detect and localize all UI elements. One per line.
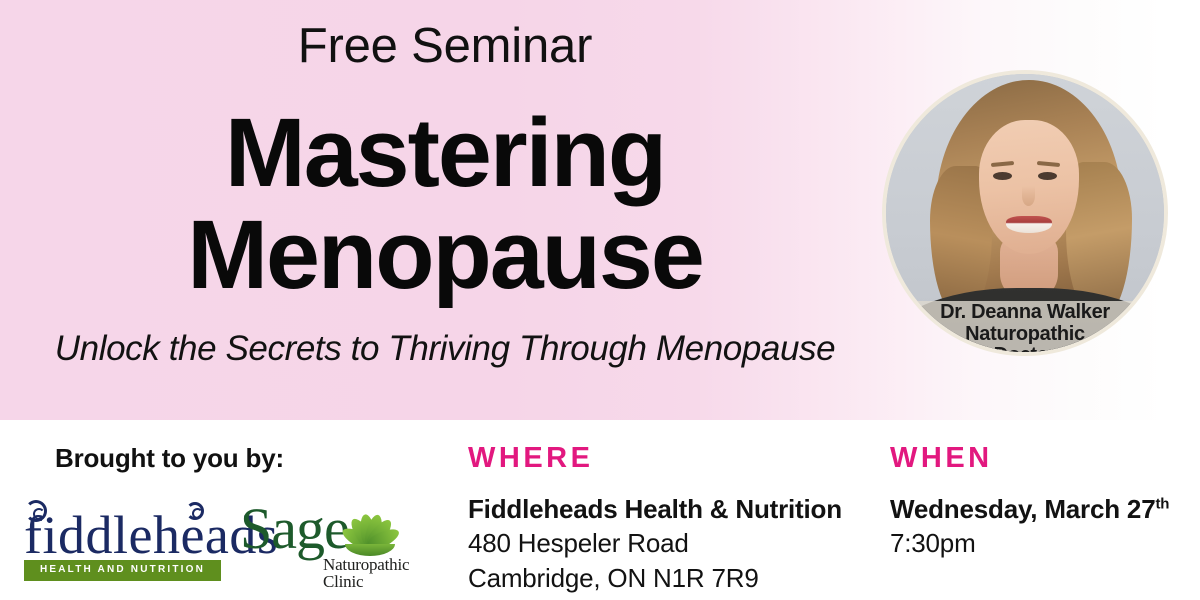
event-date-line: Wednesday, March 27th xyxy=(890,492,1190,526)
page-title-line-2: Menopause xyxy=(0,206,890,303)
sage-logo[interactable]: Sage Naturopathic Clinic xyxy=(240,494,430,586)
portrait-nose xyxy=(1022,186,1035,206)
page-title-line-1: Mastering xyxy=(0,104,890,201)
event-date-ordinal-suffix: th xyxy=(1155,495,1169,512)
fiddleheads-logo[interactable]: fiddleheads HEALTH AND NUTRITION xyxy=(12,498,234,584)
hero-section: Free Seminar Mastering Menopause Unlock … xyxy=(0,0,1200,420)
sponsors-section: Brought to you by: fiddleheads HEALTH AN… xyxy=(0,420,440,600)
eyebrow-text: Free Seminar xyxy=(0,22,890,71)
sage-tagline: Naturopathic Clinic xyxy=(323,556,430,590)
event-banner: Free Seminar Mastering Menopause Unlock … xyxy=(0,0,1200,600)
venue-name: Fiddleheads Health & Nutrition xyxy=(468,492,868,526)
where-section: WHERE Fiddleheads Health & Nutrition 480… xyxy=(468,420,868,600)
brought-to-you-by-label: Brought to you by: xyxy=(55,443,284,474)
footer-info-bar: Brought to you by: fiddleheads HEALTH AN… xyxy=(0,420,1200,600)
portrait-eye-right xyxy=(1038,172,1057,180)
when-kicker: WHEN xyxy=(890,444,993,473)
fiddleheads-tagline-bar: HEALTH AND NUTRITION xyxy=(24,560,221,581)
event-time: 7:30pm xyxy=(890,526,1190,560)
where-kicker: WHERE xyxy=(468,444,593,473)
where-details: Fiddleheads Health & Nutrition 480 Hespe… xyxy=(468,492,868,595)
sage-wordmark: Sage xyxy=(240,500,349,558)
venue-street: 480 Hespeler Road xyxy=(468,526,868,560)
speaker-name: Dr. Deanna Walker xyxy=(886,302,1164,324)
speaker-avatar: Dr. Deanna Walker Naturopathic Doctor xyxy=(882,70,1168,356)
portrait-eye-left xyxy=(993,172,1012,180)
speaker-caption: Dr. Deanna Walker Naturopathic Doctor xyxy=(886,302,1164,356)
subtitle-text: Unlock the Secrets to Thriving Through M… xyxy=(0,331,890,366)
fiddleheads-tagline: HEALTH AND NUTRITION xyxy=(24,564,221,575)
leaf-icon xyxy=(335,508,403,558)
event-date: Wednesday, March 27 xyxy=(890,494,1155,524)
speaker-credential-line-2: Doctor xyxy=(886,345,1164,356)
portrait-mouth xyxy=(1006,216,1052,233)
sponsor-logo-row: fiddleheads HEALTH AND NUTRITION Sage xyxy=(12,492,432,588)
headline-block: Free Seminar Mastering Menopause Unlock … xyxy=(0,0,890,420)
venue-city: Cambridge, ON N1R 7R9 xyxy=(468,561,868,595)
when-section: WHEN Wednesday, March 27th 7:30pm xyxy=(890,420,1190,600)
speaker-credential-line-1: Naturopathic xyxy=(886,324,1164,346)
when-details: Wednesday, March 27th 7:30pm xyxy=(890,492,1190,561)
